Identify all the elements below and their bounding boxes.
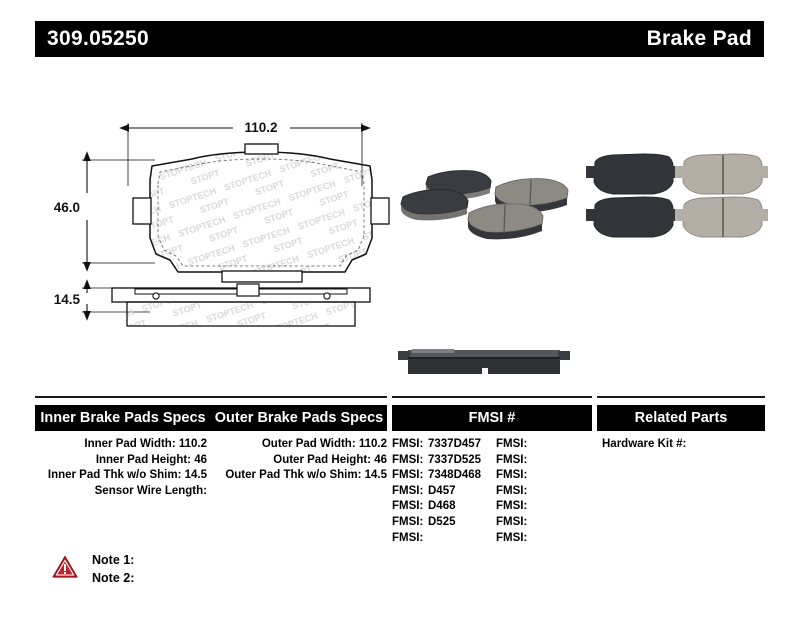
column-header-inner-specs: Inner Brake Pads Specs bbox=[35, 410, 211, 426]
note-1: Note 1: bbox=[92, 552, 134, 570]
list-item: Outer Pad Thk w/o Shim: 14.5 bbox=[213, 468, 387, 484]
outer-specs-list: Outer Pad Width: 110.2 Outer Pad Height:… bbox=[213, 437, 387, 484]
fmsi-label-secondary: FMSI: bbox=[496, 453, 536, 469]
pad-photo-flat-dark-top bbox=[586, 154, 681, 194]
fmsi-label: FMSI: bbox=[392, 437, 428, 453]
dimension-height-label: 46.0 bbox=[54, 200, 80, 215]
inner-specs-list: Inner Pad Width: 110.2 Inner Pad Height:… bbox=[35, 437, 207, 499]
list-item: Outer Pad Width: 110.2 bbox=[213, 437, 387, 453]
list-item: Hardware Kit #: bbox=[602, 437, 765, 453]
note-2: Note 2: bbox=[92, 570, 134, 588]
fmsi-value: 7348D468 bbox=[428, 468, 496, 484]
fmsi-label-secondary: FMSI: bbox=[496, 468, 536, 484]
list-item: Sensor Wire Length: bbox=[35, 484, 207, 500]
column-header-outer-specs: Outer Brake Pads Specs bbox=[211, 410, 387, 426]
product-type-title: Brake Pad bbox=[647, 27, 752, 51]
fmsi-value bbox=[428, 531, 496, 547]
fmsi-label: FMSI: bbox=[392, 499, 428, 515]
fmsi-label: FMSI: bbox=[392, 515, 428, 531]
table-row: FMSI: 7337D457 FMSI: bbox=[392, 437, 592, 453]
fmsi-label: FMSI: bbox=[392, 484, 428, 500]
pad-photo-light-lower bbox=[468, 204, 543, 240]
table-rule-mid bbox=[392, 396, 592, 398]
fmsi-value: D468 bbox=[428, 499, 496, 515]
list-item: Inner Pad Width: 110.2 bbox=[35, 437, 207, 453]
table-row: FMSI: FMSI: bbox=[392, 531, 592, 547]
table-row: FMSI: 7348D468 FMSI: bbox=[392, 468, 592, 484]
fmsi-label: FMSI: bbox=[392, 468, 428, 484]
table-header-specs-group: Inner Brake Pads Specs Outer Brake Pads … bbox=[35, 405, 387, 431]
table-row: FMSI: 7337D525 FMSI: bbox=[392, 453, 592, 469]
fmsi-label: FMSI: bbox=[392, 453, 428, 469]
dimension-thickness-label: 14.5 bbox=[54, 292, 81, 307]
related-parts-list: Hardware Kit #: bbox=[602, 437, 765, 453]
table-row: FMSI: D457 FMSI: bbox=[392, 484, 592, 500]
pad-front-view bbox=[133, 144, 389, 282]
product-photo-edge bbox=[398, 338, 570, 388]
product-photo-perspective bbox=[395, 155, 585, 245]
pad-photo-flat-light-top bbox=[675, 154, 768, 194]
fmsi-label-secondary: FMSI: bbox=[496, 437, 536, 453]
fmsi-label-secondary: FMSI: bbox=[496, 484, 536, 500]
dimension-width-label: 110.2 bbox=[244, 120, 277, 135]
pad-photo-dark-lower bbox=[401, 190, 468, 221]
table-row: FMSI: D525 FMSI: bbox=[392, 515, 592, 531]
pad-photo-flat-light-bottom bbox=[675, 197, 768, 237]
fmsi-label-secondary: FMSI: bbox=[496, 515, 536, 531]
fmsi-label-secondary: FMSI: bbox=[496, 499, 536, 515]
product-photo-flat bbox=[583, 152, 768, 244]
list-item: Inner Pad Thk w/o Shim: 14.5 bbox=[35, 468, 207, 484]
pad-photo-edge-view bbox=[398, 349, 570, 374]
fmsi-value: D525 bbox=[428, 515, 496, 531]
product-illustration-area: STOPTECH STOPTECH 110.2 46.0 bbox=[0, 60, 800, 390]
list-item: Inner Pad Height: 46 bbox=[35, 453, 207, 469]
fmsi-label: FMSI: bbox=[392, 531, 428, 547]
fmsi-label-secondary: FMSI: bbox=[496, 531, 536, 547]
part-number: 309.05250 bbox=[47, 27, 149, 51]
list-item: Outer Pad Height: 46 bbox=[213, 453, 387, 469]
fmsi-value: 7337D525 bbox=[428, 453, 496, 469]
table-rule-right bbox=[597, 396, 765, 398]
pad-side-view bbox=[112, 284, 370, 326]
header-bar: 309.05250 Brake Pad bbox=[35, 21, 764, 57]
table-rule-left bbox=[35, 396, 387, 398]
fmsi-value: D457 bbox=[428, 484, 496, 500]
column-header-fmsi: FMSI # bbox=[392, 405, 592, 431]
warning-triangle-icon bbox=[52, 555, 78, 579]
fmsi-list: FMSI: 7337D457 FMSI: FMSI: 7337D525 FMSI… bbox=[392, 437, 592, 546]
pad-photo-flat-dark-bottom bbox=[586, 197, 681, 237]
table-row: FMSI: D468 FMSI: bbox=[392, 499, 592, 515]
column-header-related-parts: Related Parts bbox=[597, 405, 765, 431]
notes-section: Note 1: Note 2: bbox=[52, 552, 134, 587]
fmsi-value: 7337D457 bbox=[428, 437, 496, 453]
